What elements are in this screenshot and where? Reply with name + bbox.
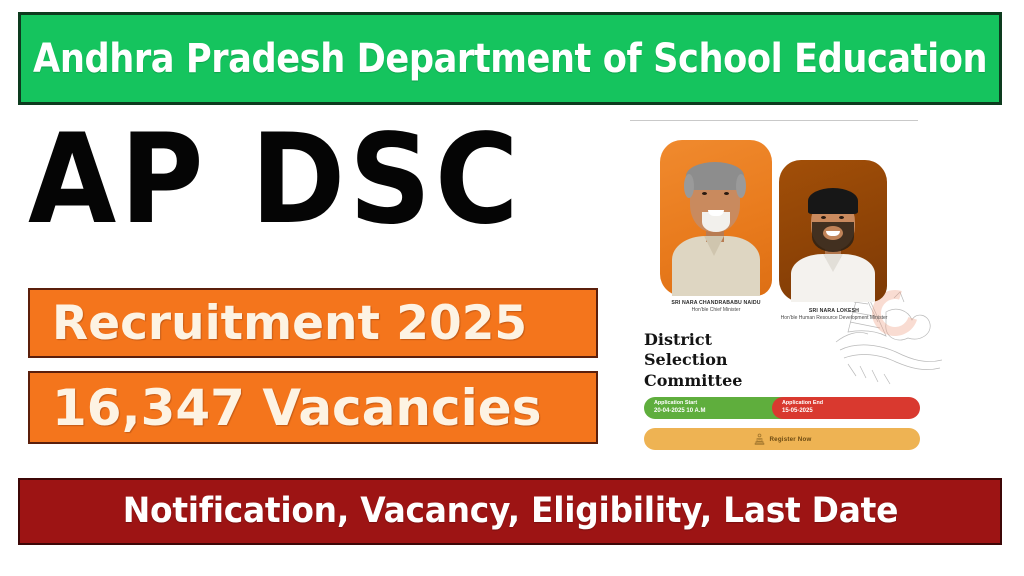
leader-caption-chandrababu-naidu: SRI NARA CHANDRABABU NAIDU Hon'ble Chief… [646, 300, 786, 313]
portrait-face [779, 160, 887, 302]
poster-canvas: Andhra Pradesh Department of School Educ… [0, 0, 1024, 576]
portrait-face [660, 140, 772, 296]
committee-title-line-2: Selection [644, 350, 742, 370]
committee-title-line-3: Committee [644, 371, 742, 391]
leader-portrait-chandrababu-naidu [660, 140, 772, 296]
leader-caption-nara-lokesh: SRI NARA LOKESH Hon'ble Human Resource D… [772, 308, 896, 321]
committee-title: District Selection Committee [644, 330, 742, 391]
register-now-button[interactable]: Register Now [644, 428, 920, 450]
application-end-label: Application End [782, 400, 920, 407]
leader-role: Hon'ble Chief Minister [646, 307, 786, 313]
poster-divider [630, 120, 918, 121]
committee-title-line-1: District [644, 330, 742, 350]
leader-portrait-nara-lokesh [779, 160, 887, 302]
main-content-column: AP DSC Recruitment 2025 16,347 Vacancies [18, 118, 603, 468]
highlight-box-recruitment: Recruitment 2025 [28, 288, 598, 358]
application-dates-row: Application Start 20-04-2025 10 A.M Appl… [644, 397, 920, 419]
application-end-value: 15-05-2025 [782, 407, 920, 415]
highlight-label-vacancies: 16,347 Vacancies [30, 383, 541, 433]
person-podium-icon [753, 433, 766, 446]
page-title: AP DSC [28, 118, 522, 242]
recruitment-poster: SRI NARA CHANDRABABU NAIDU Hon'ble Chief… [622, 112, 942, 467]
footer-bar-text: Notification, Vacancy, Eligibility, Last… [122, 494, 897, 529]
footer-bar: Notification, Vacancy, Eligibility, Last… [18, 478, 1002, 545]
header-title: Andhra Pradesh Department of School Educ… [33, 39, 987, 79]
register-now-label: Register Now [770, 436, 812, 443]
highlight-box-vacancies: 16,347 Vacancies [28, 371, 598, 444]
highlight-label-recruitment: Recruitment 2025 [30, 300, 527, 347]
application-end-pill: Application End 15-05-2025 [772, 397, 920, 419]
header-banner: Andhra Pradesh Department of School Educ… [18, 12, 1002, 105]
leader-role: Hon'ble Human Resource Development Minis… [772, 315, 896, 321]
